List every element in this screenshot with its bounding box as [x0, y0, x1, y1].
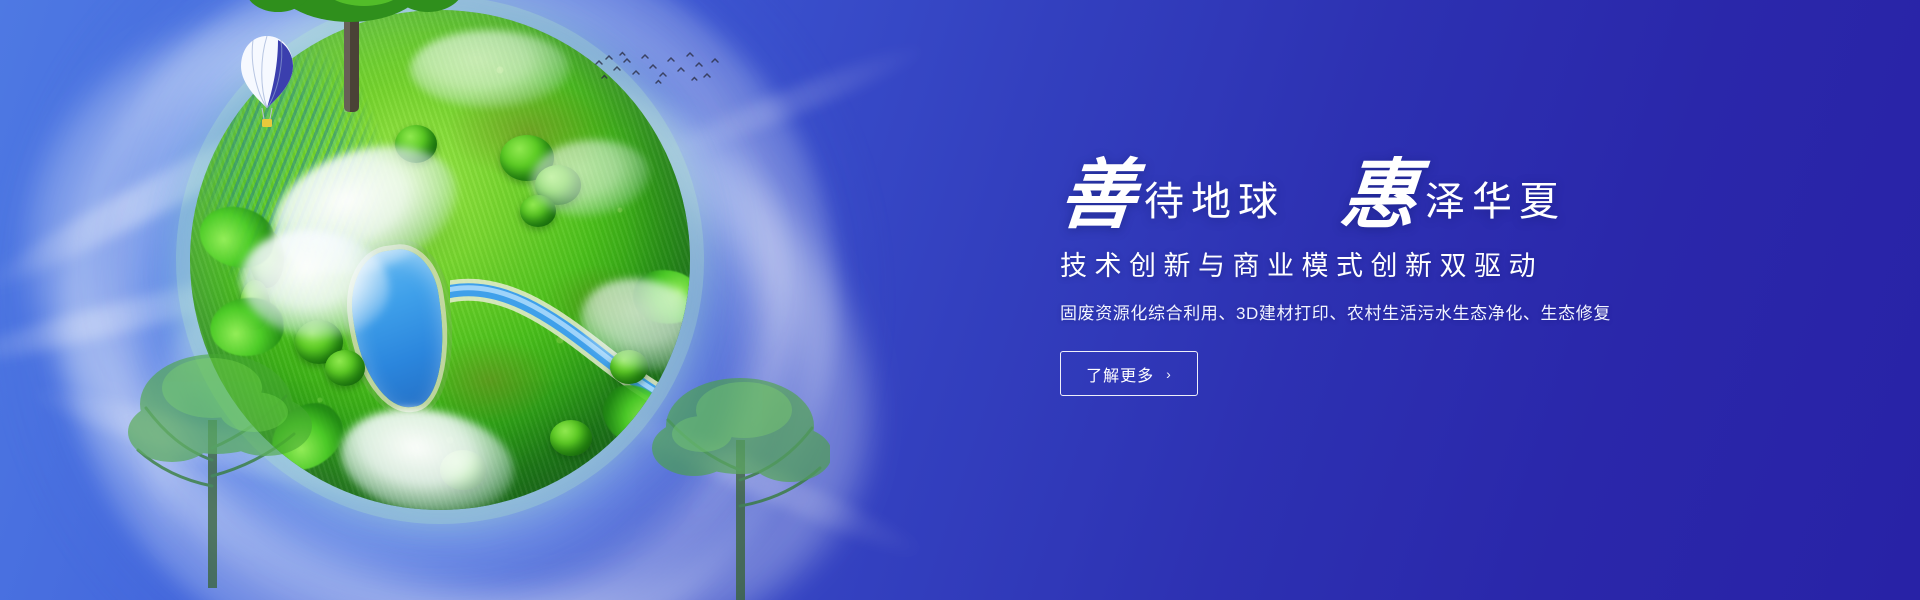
- headline-brush-char-2: 惠: [1338, 159, 1420, 232]
- hero-banner: 善 待地球 惠 泽华夏 技术创新与商业模式创新双驱动 固废资源化综合利用、3D建…: [0, 0, 1920, 600]
- headline-rest-1: 待地球: [1136, 182, 1285, 232]
- hero-copy: 善 待地球 惠 泽华夏 技术创新与商业模式创新双驱动 固废资源化综合利用、3D建…: [1060, 140, 1760, 396]
- outer-tree-left: [124, 300, 314, 590]
- surface-cloud: [332, 396, 522, 510]
- bird-flock: [592, 50, 722, 90]
- headline: 善 待地球 惠 泽华夏: [1060, 140, 1760, 232]
- tree-clump: [325, 350, 365, 386]
- tree-clump: [535, 165, 581, 205]
- tree-clump: [250, 230, 284, 288]
- chevron-right-icon: ›: [1166, 367, 1172, 381]
- surface-cloud: [256, 124, 474, 297]
- tree-clump: [520, 195, 556, 227]
- surface-cloud: [526, 134, 653, 222]
- hot-air-balloon: [238, 34, 296, 130]
- tree-clump: [395, 125, 437, 163]
- learn-more-button[interactable]: 了解更多 ›: [1060, 351, 1198, 396]
- learn-more-label: 了解更多: [1086, 362, 1154, 386]
- description: 固废资源化综合利用、3D建材打印、农村生活污水生态净化、生态修复: [1060, 303, 1760, 325]
- rim-tree: [631, 267, 690, 327]
- headline-brush-char-1: 善: [1057, 159, 1139, 232]
- subheadline: 技术创新与商业模式创新双驱动: [1060, 250, 1760, 282]
- tree-clump: [550, 420, 592, 456]
- outer-tree-right: [640, 330, 830, 600]
- lake: [344, 245, 453, 414]
- tree-clump: [500, 135, 554, 181]
- rim-tree: [193, 198, 282, 276]
- headline-rest-2: 泽华夏: [1417, 182, 1566, 232]
- tree-clump: [440, 450, 486, 490]
